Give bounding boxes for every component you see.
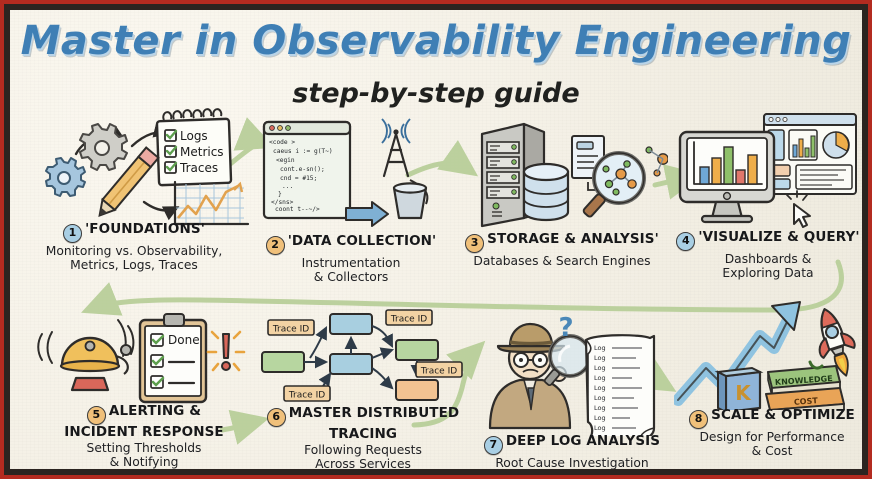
step-4-badge: 4: [676, 232, 695, 251]
step-2-heading-text: 'DATA COLLECTION': [288, 233, 437, 249]
step-6-heading-line2: TRACING: [254, 427, 472, 442]
clipboard-label-done: Done: [168, 333, 200, 347]
step-6-heading-line1: 6MASTER DISTRIBUTED: [254, 406, 472, 427]
step-5-heading-line1: 5ALERTING &: [34, 404, 254, 425]
step-5-sub-line1: Setting Thresholds: [34, 441, 254, 455]
step-7-heading: 7DEEP LOG ANALYSIS: [464, 434, 680, 455]
step-6-badge: 6: [267, 408, 286, 427]
step-3-sub-line1: Databases & Search Engines: [450, 254, 674, 268]
step-1-sub-line1: Monitoring vs. Observability,: [18, 244, 250, 258]
step-1-caption: 1'FOUNDATIONS' Monitoring vs. Observabil…: [18, 222, 250, 272]
svg-text:Log: Log: [594, 374, 606, 382]
poster-canvas: Master in Observability Engineering step…: [10, 10, 862, 469]
checklist-label-metrics: Metrics: [180, 145, 224, 159]
svg-text:cont.e-sn();: cont.e-sn();: [280, 166, 325, 173]
step-6-sub-line1: Following Requests: [254, 443, 472, 457]
step-4-heading: 4'VISUALIZE & QUERY': [660, 230, 862, 251]
alarm-bell-clipboard-illustration: Done: [36, 306, 251, 406]
step-3-heading-text: STORAGE & ANALYSIS': [487, 231, 659, 247]
step-7-heading-text: DEEP LOG ANALYSIS: [506, 433, 660, 449]
step-7-badge: 7: [484, 436, 503, 455]
question-mark-icon: ?: [558, 313, 573, 343]
step-6-heading-text-1: MASTER DISTRIBUTED: [289, 405, 459, 421]
svg-text:cnd = #15;: cnd = #15;: [280, 175, 317, 182]
svg-text:<code >: <code >: [269, 139, 295, 146]
distributed-tracing-graph-illustration: Trace ID Trace ID Trace ID Trace ID: [258, 306, 468, 406]
step-2: <code > caeus i := g(T~) <egin cont.e-sn…: [250, 110, 450, 300]
svg-text:Log: Log: [594, 414, 606, 422]
svg-text:Log: Log: [594, 424, 606, 432]
book-label-k: K: [735, 381, 752, 405]
step-2-badge: 2: [266, 236, 285, 255]
step-5: Done 5ALERTING & INCIDENT RESPONSE: [36, 306, 251, 469]
step-1-badge: 1: [63, 224, 82, 243]
step-7-caption: 7DEEP LOG ANALYSIS Root Cause Investigat…: [464, 434, 680, 469]
svg-text:caeus i := g(T~): caeus i := g(T~): [273, 148, 333, 155]
svg-text:Log: Log: [594, 394, 606, 402]
step-8-caption: 8SCALE & OPTIMIZE Design for Performance…: [670, 408, 862, 458]
step-2-sub-line2: & Collectors: [246, 270, 456, 284]
svg-text:Trace ID: Trace ID: [288, 391, 325, 401]
step-6-sub-line2: Across Services: [254, 457, 472, 469]
svg-text:Trace ID: Trace ID: [272, 325, 309, 335]
server-database-magnifier-illustration: [456, 114, 668, 232]
step-4-caption: 4'VISUALIZE & QUERY' Dashboards & Explor…: [660, 230, 862, 280]
step-8-sub-line1: Design for Performance: [670, 430, 862, 444]
step-7: ? Log Log Log Log Log Log Log Log Log: [472, 306, 672, 469]
svg-text:<egin: <egin: [276, 157, 295, 164]
step-6-caption: 6MASTER DISTRIBUTED TRACING Following Re…: [254, 406, 472, 469]
step-5-heading-line2: INCIDENT RESPONSE: [34, 425, 254, 440]
svg-text:Trace ID: Trace ID: [420, 367, 457, 377]
page-title: Master in Observability Engineering: [10, 18, 862, 64]
step-4: 4'VISUALIZE & QUERY' Dashboards & Explor…: [672, 108, 862, 298]
step-8-heading-text: SCALE & OPTIMIZE: [711, 407, 855, 423]
step-5-heading-text-1: ALERTING &: [109, 403, 201, 419]
step-4-sub-line2: Exploring Data: [660, 266, 862, 280]
growth-arrow-rocket-books-illustration: KNOWLEDGE COST K: [674, 298, 862, 410]
log-scroll-lines: Log Log Log Log Log Log Log Log Log: [594, 344, 606, 432]
step-5-sub-line2: & Notifying: [34, 455, 254, 469]
step-7-sub-line1: Root Cause Investigation: [464, 456, 680, 469]
step-8-sub-line2: & Cost: [670, 444, 862, 458]
step-2-sub-line1: Instrumentation: [246, 256, 456, 270]
svg-text:Log: Log: [594, 404, 606, 412]
poster-frame: Master in Observability Engineering step…: [0, 0, 872, 479]
svg-text:...: ...: [282, 183, 293, 190]
step-3-caption: 3STORAGE & ANALYSIS' Databases & Search …: [450, 232, 674, 268]
checklist-label-traces: Traces: [179, 161, 218, 175]
step-5-caption: 5ALERTING & INCIDENT RESPONSE Setting Th…: [34, 404, 254, 469]
monitor-dashboard-cursor-illustration: [672, 108, 862, 230]
svg-text:Log: Log: [594, 344, 606, 352]
step-1-heading-text: 'FOUNDATIONS': [85, 221, 205, 237]
step-2-caption: 2'DATA COLLECTION' Instrumentation & Col…: [246, 234, 456, 284]
step-3-badge: 3: [465, 234, 484, 253]
step-3-heading: 3STORAGE & ANALYSIS': [450, 232, 674, 253]
step-5-badge: 5: [87, 406, 106, 425]
step-4-heading-text: 'VISUALIZE & QUERY': [698, 229, 859, 245]
detective-magnifier-log-scroll-illustration: ? Log Log Log Log Log Log Log Log Log: [472, 306, 672, 436]
step-4-sub-line1: Dashboards &: [660, 252, 862, 266]
step-8: KNOWLEDGE COST K 8SCALE & OPTIMIZE Desig…: [674, 298, 862, 469]
step-1: Logs Metrics Traces: [18, 106, 250, 296]
page-subtitle: step-by-step guide: [276, 76, 595, 112]
svg-text:}: }: [278, 191, 282, 198]
step-2-heading: 2'DATA COLLECTION': [246, 234, 456, 255]
svg-text:Log: Log: [594, 384, 606, 392]
step-8-badge: 8: [689, 410, 708, 429]
checklist-label-logs: Logs: [180, 129, 208, 143]
step-8-heading: 8SCALE & OPTIMIZE: [670, 408, 862, 429]
step-1-sub-line2: Metrics, Logs, Traces: [18, 258, 250, 272]
svg-text:</sns>: </sns>: [271, 199, 294, 206]
step-6: Trace ID Trace ID Trace ID Trace ID 6MAS…: [258, 306, 468, 469]
step-3: 3STORAGE & ANALYSIS' Databases & Search …: [456, 114, 668, 294]
svg-text:Trace ID: Trace ID: [390, 315, 427, 325]
svg-text:coont t--~/>: coont t--~/>: [275, 206, 320, 213]
step-1-heading: 1'FOUNDATIONS': [18, 222, 250, 243]
book-label-cost: COST: [794, 396, 819, 407]
code-window-antenna-collector-illustration: <code > caeus i := g(T~) <egin cont.e-sn…: [250, 110, 450, 230]
svg-text:Log: Log: [594, 364, 606, 372]
gears-notepad-chart-illustration: Logs Metrics Traces: [18, 106, 250, 226]
svg-text:Log: Log: [594, 354, 606, 362]
